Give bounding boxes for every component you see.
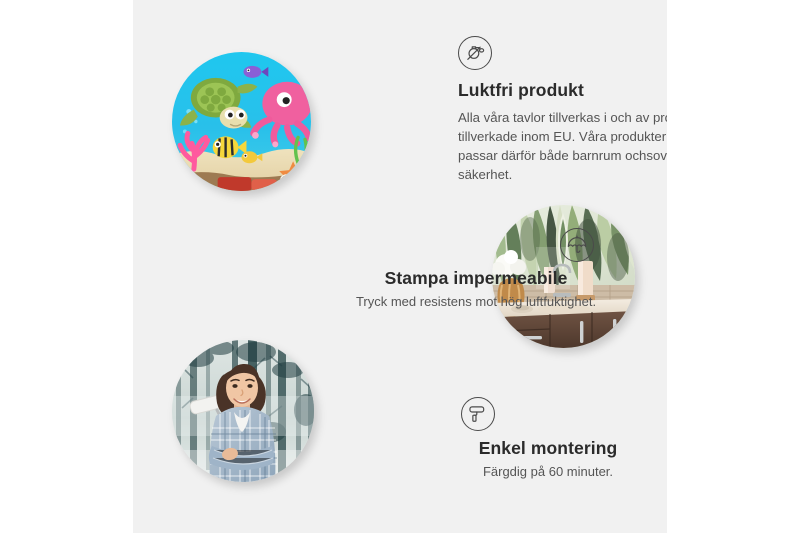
feature-waterproof: Stampa impermeabile Tryck med resistens …: [336, 228, 616, 312]
feature-odour-free: Luktfri produkt Alla våra tavlor tillver…: [458, 36, 667, 185]
umbrella-icon: [560, 228, 594, 262]
photo-underwater-kids-mural: [172, 52, 311, 191]
photo-woman-painter-forest-mural: [172, 340, 314, 482]
product-feature-banner: Luktfri produkt Alla våra tavlor tillver…: [0, 0, 800, 533]
no-fragrance-icon: [458, 36, 492, 70]
icon-row: [336, 228, 616, 262]
feature-title: Luktfri produkt: [458, 80, 667, 101]
feature-body: Tryck med resistens mot hög luftfuktighe…: [336, 293, 616, 312]
painter-forest-photo: [172, 340, 314, 482]
underwater-scene-illustration: [172, 52, 311, 191]
paint-roller-icon: [461, 397, 495, 431]
icon-row: [433, 397, 663, 431]
content-panel: Luktfri produkt Alla våra tavlor tillver…: [133, 0, 667, 533]
feature-easy-mounting: Enkel montering Färgdig på 60 minuter.: [433, 397, 663, 482]
feature-title: Enkel montering: [433, 438, 663, 459]
feature-title: Stampa impermeabile: [336, 268, 616, 289]
feature-body: Färgdig på 60 minuter.: [433, 463, 663, 482]
feature-body: Alla våra tavlor tillverkas i och av pro…: [458, 108, 667, 185]
